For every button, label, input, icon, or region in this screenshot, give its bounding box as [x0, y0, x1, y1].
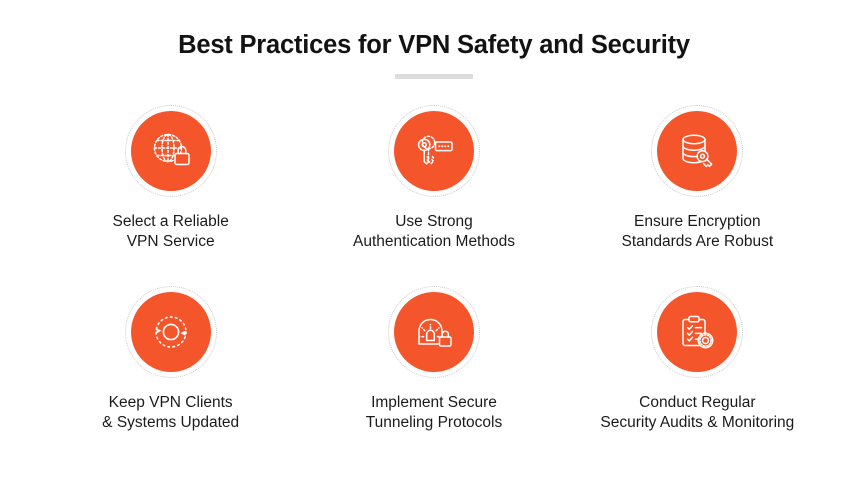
icon-ring: [388, 286, 480, 378]
practice-item-secure-tunneling: Implement Secure Tunneling Protocols: [302, 286, 565, 467]
refresh-update-icon: [148, 309, 194, 355]
practice-item-security-audits: Conduct Regular Security Audits & Monito…: [566, 286, 829, 467]
practice-caption: Select a Reliable VPN Service: [113, 212, 229, 253]
globe-lock-icon: [148, 128, 194, 174]
tunnel-lock-icon: [411, 309, 457, 355]
icon-ring: [125, 105, 217, 197]
practice-item-encryption-standards: Ensure Encryption Standards Are Robust: [566, 105, 829, 286]
practice-item-strong-authentication: Use Strong Authentication Methods: [302, 105, 565, 286]
practice-item-select-reliable-vpn: Select a Reliable VPN Service: [39, 105, 302, 286]
database-key-icon: [674, 128, 720, 174]
practice-caption: Keep VPN Clients & Systems Updated: [102, 393, 239, 434]
page-title: Best Practices for VPN Safety and Securi…: [178, 30, 690, 61]
icon-ring: [125, 286, 217, 378]
icon-ring: [388, 105, 480, 197]
infographic-root: Best Practices for VPN Safety and Securi…: [0, 0, 868, 488]
icon-disc: [394, 111, 474, 191]
icon-disc: [131, 292, 211, 372]
practice-item-keep-updated: Keep VPN Clients & Systems Updated: [39, 286, 302, 467]
icon-ring: [651, 286, 743, 378]
practice-caption: Ensure Encryption Standards Are Robust: [622, 212, 774, 253]
icon-disc: [394, 292, 474, 372]
title-divider: [395, 74, 473, 79]
icon-disc: [657, 111, 737, 191]
practices-grid: Select a Reliable VPN Service: [39, 105, 829, 467]
icon-disc: [131, 111, 211, 191]
icon-ring: [651, 105, 743, 197]
icon-disc: [657, 292, 737, 372]
practice-caption: Use Strong Authentication Methods: [353, 212, 515, 253]
practice-caption: Conduct Regular Security Audits & Monito…: [600, 393, 794, 434]
clipboard-checklist-gear-icon: [674, 309, 720, 355]
practice-caption: Implement Secure Tunneling Protocols: [366, 393, 502, 434]
header: Best Practices for VPN Safety and Securi…: [178, 30, 690, 79]
keys-password-icon: [411, 128, 457, 174]
